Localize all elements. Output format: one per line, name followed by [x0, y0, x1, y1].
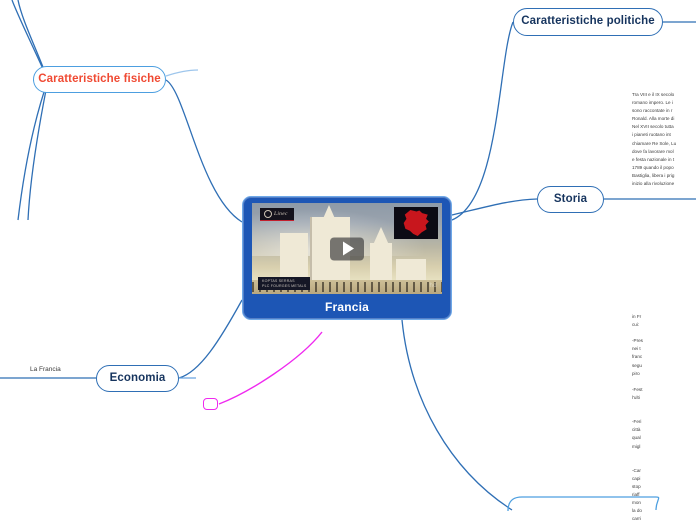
note-block-storia: Tra VIII e il IX secoloromano impero. Le…	[632, 91, 696, 188]
hd-watermark: hd	[430, 283, 437, 289]
note-line: stop	[632, 483, 696, 491]
note-line: 1789 quando il popo	[632, 164, 696, 172]
topic-node-empty[interactable]	[203, 398, 218, 410]
source-badge-label: Linec	[274, 211, 288, 217]
note-line: capi	[632, 475, 696, 483]
central-node[interactable]: Linec KOPTAS SERRAS PLC FOURGES METALS h…	[242, 196, 452, 320]
note-line: -Feri	[632, 418, 696, 426]
note-line: riaff	[632, 491, 696, 499]
source-badge: Linec	[260, 208, 294, 221]
note-line: migl	[632, 443, 696, 451]
note-line: città	[632, 426, 696, 434]
note-line: i pianeti ruotano int	[632, 131, 696, 139]
note-line	[632, 329, 696, 337]
note-line: piro	[632, 370, 696, 378]
video-thumbnail[interactable]: Linec KOPTAS SERRAS PLC FOURGES METALS h…	[252, 203, 442, 294]
note-line: la do	[632, 507, 696, 515]
topic-node-storia[interactable]: Storia	[537, 186, 604, 213]
relation-label-la-francia: La Francia	[30, 366, 61, 373]
note-line: franc	[632, 353, 696, 361]
note-line: e festa nazionale in t	[632, 156, 696, 164]
note-line	[632, 451, 696, 459]
note-line: qual	[632, 434, 696, 442]
note-line: cui:	[632, 321, 696, 329]
note-line: dove fa lavorare mol	[632, 148, 696, 156]
note-line: sono raccontate in r	[632, 107, 696, 115]
topic-node-economia[interactable]: Economia	[96, 365, 179, 392]
note-line: -Pres	[632, 337, 696, 345]
mindmap-canvas[interactable]: Linec KOPTAS SERRAS PLC FOURGES METALS h…	[0, 0, 696, 520]
note-line: Nel XVII secolo tutta	[632, 123, 696, 131]
caption-line-2: PLC FOURGES METALS	[262, 284, 306, 288]
note-line	[632, 402, 696, 410]
topic-label: Caratteristiche politiche	[521, 16, 655, 28]
note-line: -Fest	[632, 386, 696, 394]
note-line: inizio alla rivoluzione	[632, 180, 696, 188]
note-line: chiamare Re Sole, Lu	[632, 140, 696, 148]
topic-label: Economia	[110, 373, 166, 385]
topic-node-caratteristiche-fisiche[interactable]: Caratteristiche fisiche	[33, 66, 166, 93]
note-line: Ronald. Alla morte di	[632, 115, 696, 123]
central-node-title: Francia	[325, 300, 369, 314]
note-line	[632, 378, 696, 386]
topic-label: Storia	[554, 194, 587, 206]
play-icon[interactable]	[330, 237, 364, 260]
france-silhouette	[402, 210, 430, 236]
note-line	[632, 410, 696, 418]
note-line	[632, 459, 696, 467]
note-line: -Car	[632, 467, 696, 475]
note-line: l'ulti	[632, 394, 696, 402]
note-line: in Fr	[632, 313, 696, 321]
france-map-icon	[394, 207, 438, 239]
note-line: segu	[632, 362, 696, 370]
note-block-feste: in Frcui:-Presnei tfrancsegupiro-Festl'u…	[632, 313, 696, 523]
note-line: carri	[632, 515, 696, 523]
thumbnail-caption: KOPTAS SERRAS PLC FOURGES METALS	[258, 277, 310, 290]
topic-label: Caratteristiche fisiche	[38, 74, 160, 86]
note-line: nei t	[632, 345, 696, 353]
note-line: Tra VIII e il IX secolo	[632, 91, 696, 99]
note-line: romano impero. Le i	[632, 99, 696, 107]
note-line: mon	[632, 499, 696, 507]
note-line: Bastiglia, libera i prig	[632, 172, 696, 180]
badge-glyph-icon	[264, 210, 272, 218]
topic-node-caratteristiche-politiche[interactable]: Caratteristiche politiche	[513, 8, 663, 36]
